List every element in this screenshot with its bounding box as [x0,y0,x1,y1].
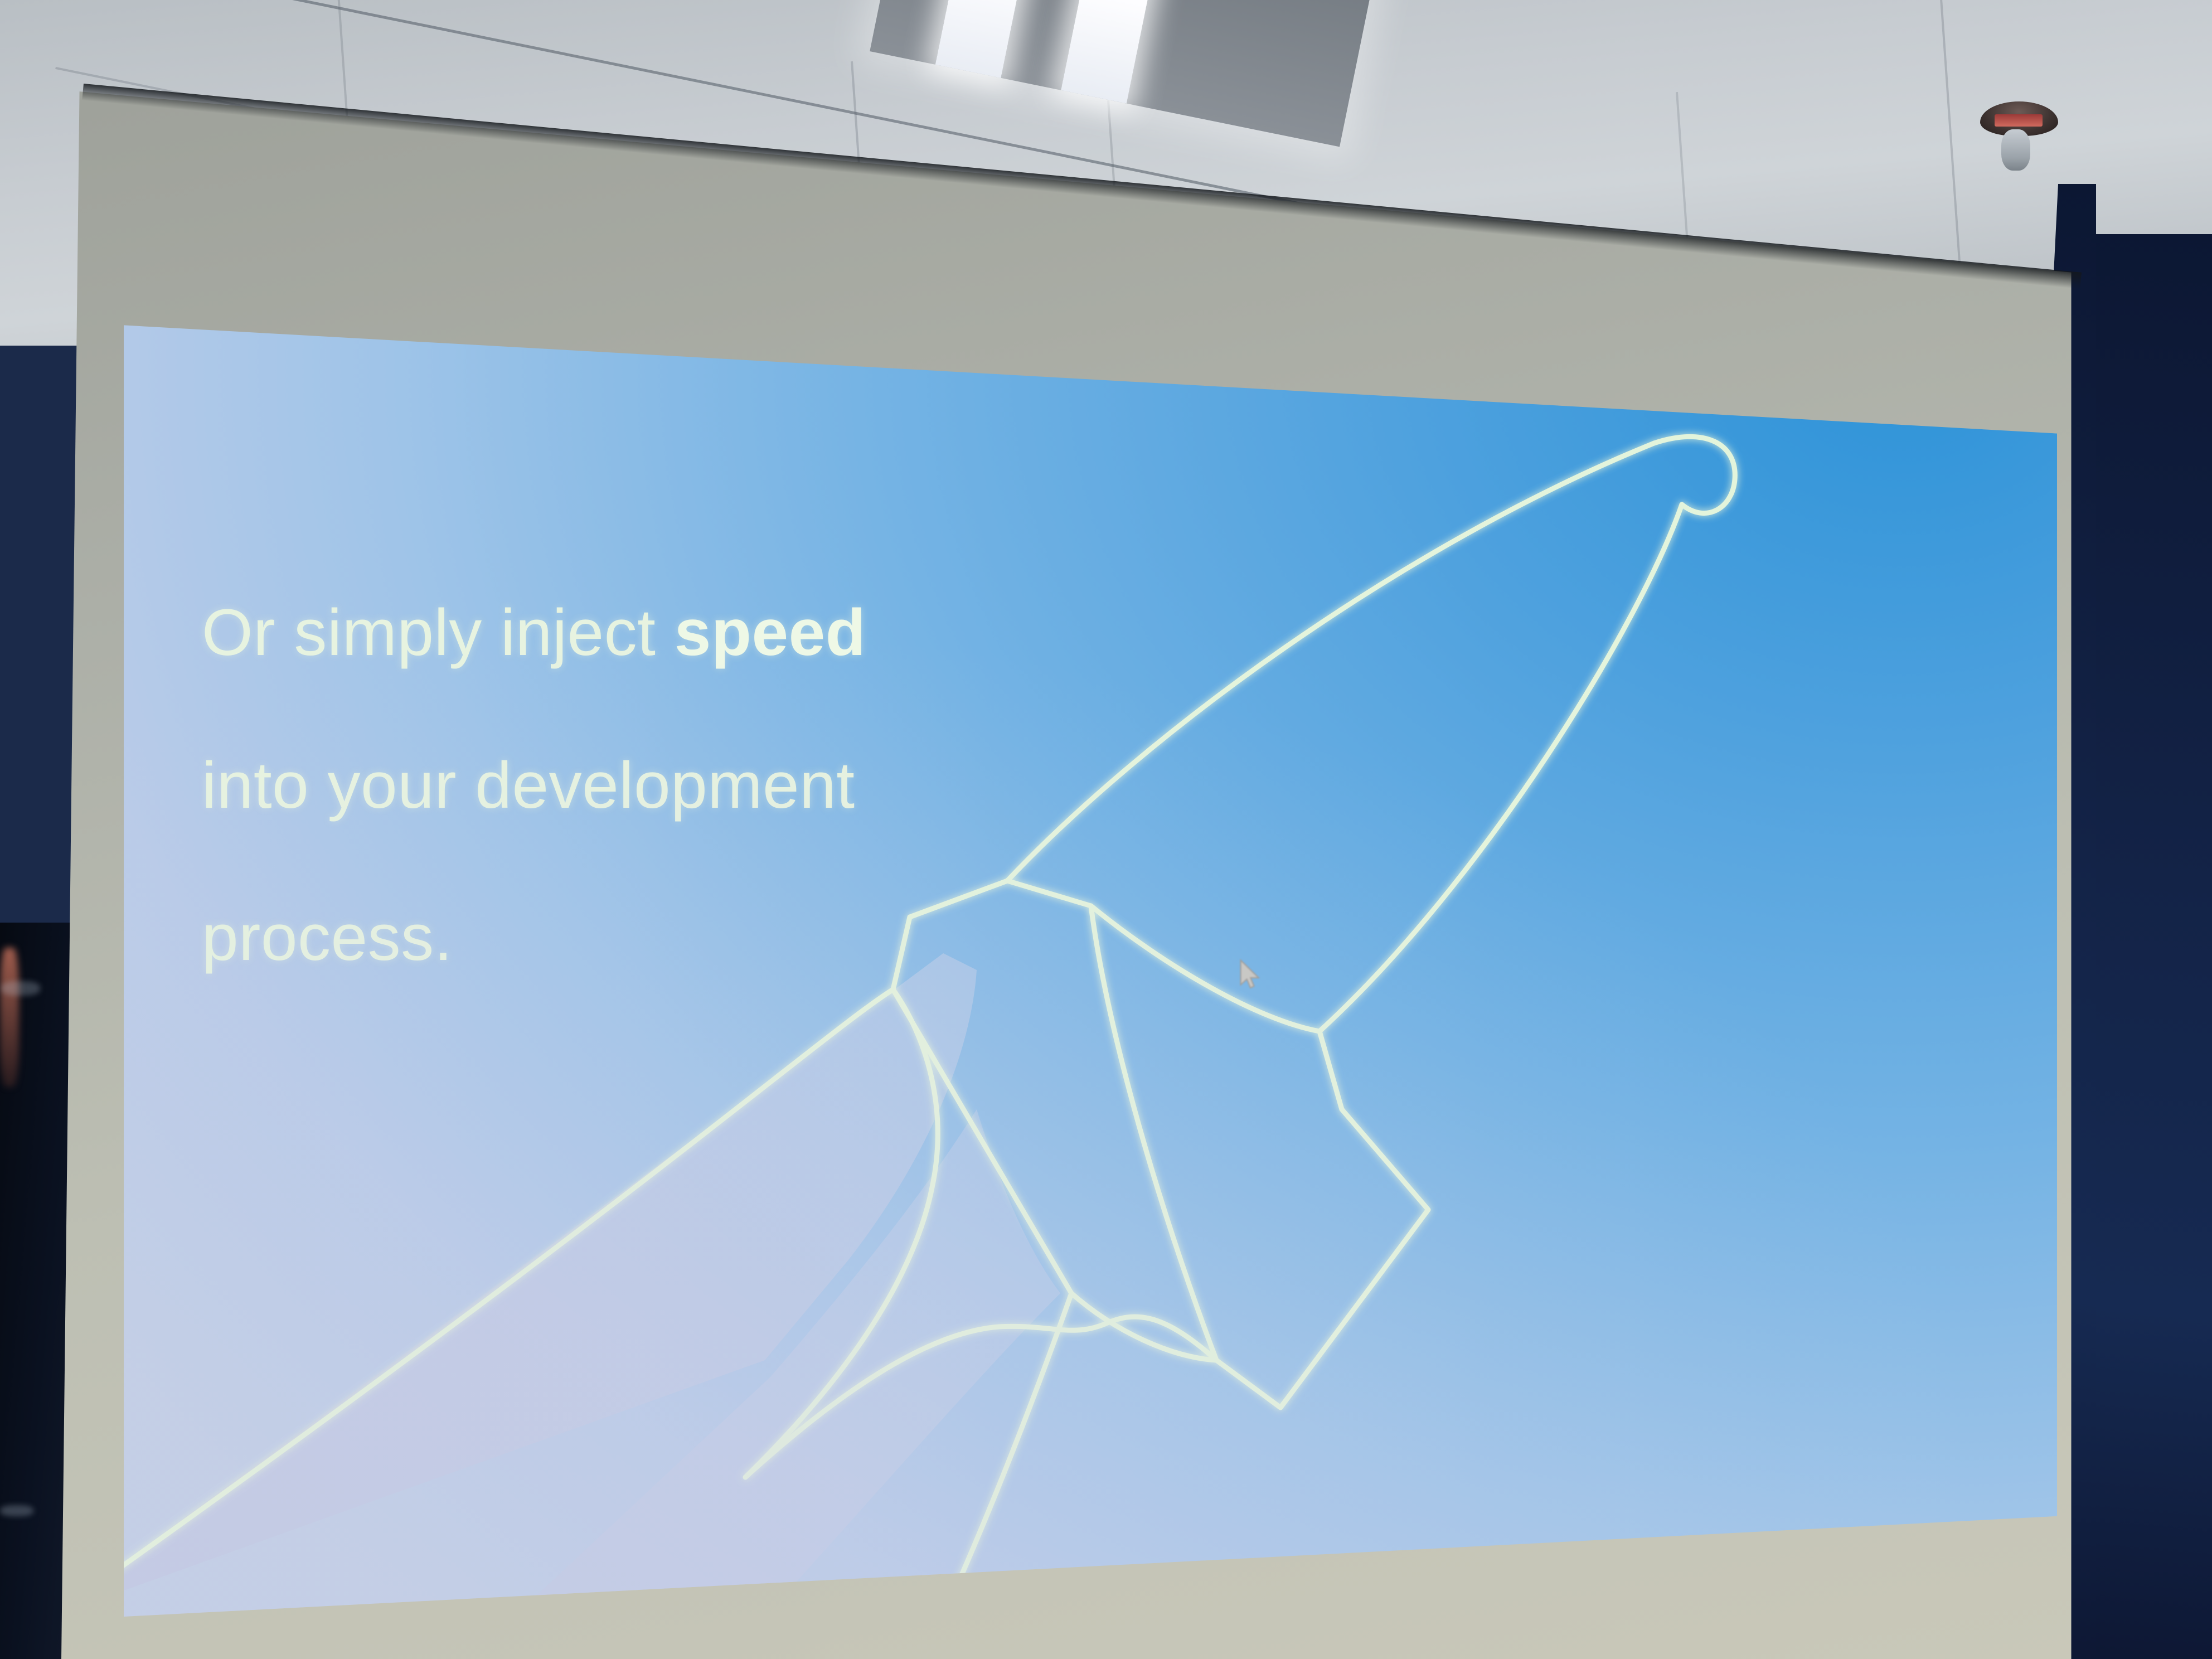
rocket-collar-lower [1320,1031,1342,1109]
mouse-pointer-icon [1239,959,1263,992]
slide-text-line2: into your development [202,749,855,822]
slide-text-line3: process. [202,901,453,974]
left-panel-highlight [0,1505,33,1516]
left-panel-highlight [1,981,40,996]
presentation-slide: Or simply inject speed into your develop… [124,312,2057,1617]
rocket-collar-diagonal [1091,906,1320,1031]
sprinkler-bulb-icon [1995,114,2043,127]
rocket-nose-left-edge [1007,443,1654,881]
rocket-exhaust-join [1105,1317,1216,1360]
sprinkler-stem-icon [2001,129,2030,171]
rocket-left-fin-outer [124,989,893,1617]
exhaust-plume-fill-2 [514,1109,1060,1617]
rocket-body-right-edge [1091,906,1216,1360]
rocket-trail-line [943,1293,1071,1617]
rocket-nose-tip [1654,436,1735,513]
rocket-exhaust-curve [745,1324,1105,1477]
light-tube [1061,0,1171,104]
slide-text-line1-prefix: Or simply inject [202,596,675,670]
rocket-body-bottom-left [893,989,1071,1293]
rocket-nose-right-edge [1320,505,1682,1031]
screenshot-root: Or simply inject speed into your develop… [0,0,2212,1659]
light-tube [935,0,1045,78]
rocket-body-bottom [1071,1293,1216,1360]
left-panel-mark [0,948,19,1087]
rocket-left-fin-inner [745,989,938,1477]
exhaust-plume-fill [124,953,977,1617]
rocket-right-fin [1216,1109,1428,1408]
slide-body-text: Or simply inject speed into your develop… [202,518,1094,976]
slide-text-emphasis: speed [675,596,866,670]
